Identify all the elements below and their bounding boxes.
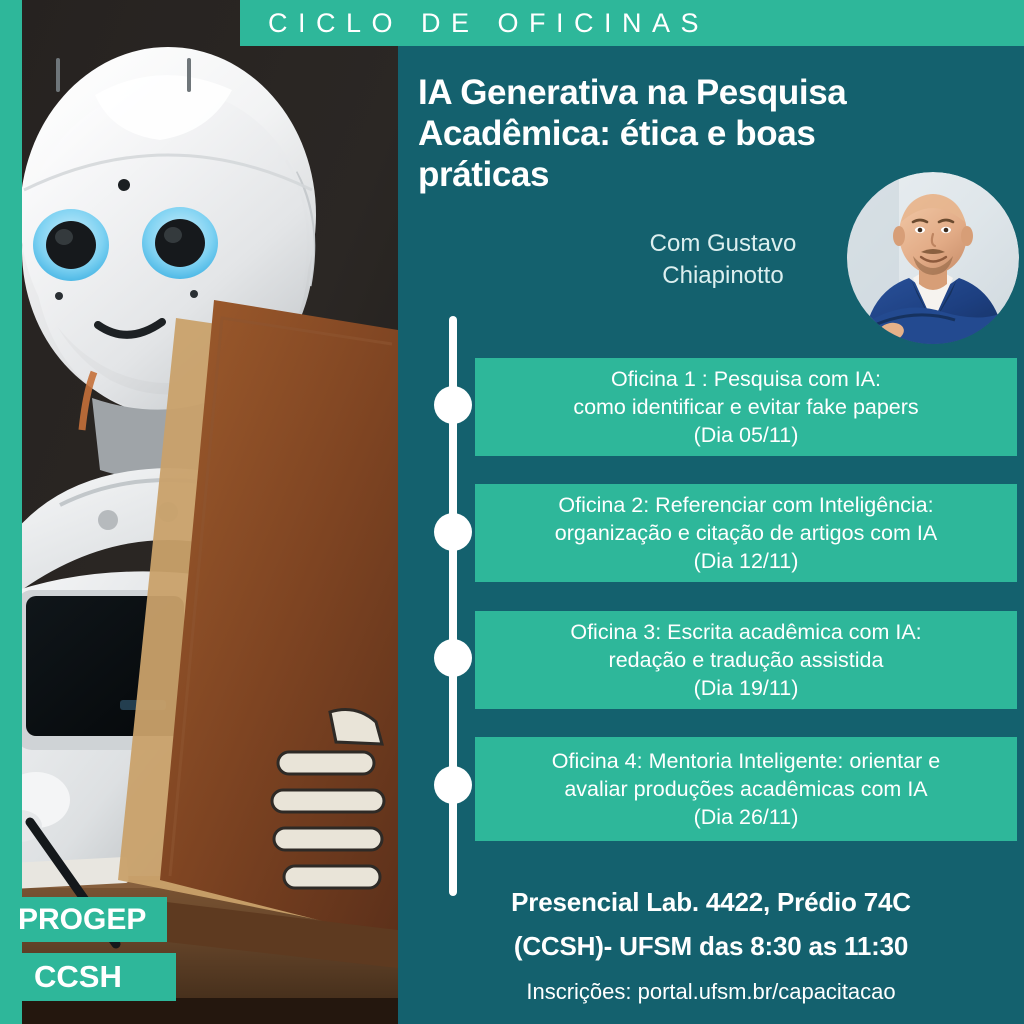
title-line-1: IA Generativa na Pesquisa <box>418 73 846 112</box>
title-line-2: Acadêmica: ética e boas <box>418 114 815 153</box>
badge-progep: PROGEP <box>0 897 167 942</box>
workshop-3-line-2: redação e tradução assistida <box>485 646 1007 674</box>
header-banner: CICLO DE OFICINAS <box>240 0 1024 46</box>
footer-location: Presencial Lab. 4422, Prédio 74C <box>398 880 1024 924</box>
speaker-portrait-illustration <box>847 172 1019 344</box>
timeline-dot-2 <box>434 513 472 551</box>
left-green-strip <box>0 0 22 1024</box>
page-title: IA Generativa na Pesquisa Acadêmica: éti… <box>418 72 938 195</box>
workshop-1-line-1: Oficina 1 : Pesquisa com IA: <box>485 365 1007 393</box>
workshop-3-date: (Dia 19/11) <box>485 674 1007 702</box>
workshop-card-2[interactable]: Oficina 2: Referenciar com Inteligência:… <box>475 484 1017 582</box>
poster-canvas: IA Generativa na Pesquisa Acadêmica: éti… <box>0 0 1024 1024</box>
workshop-card-4[interactable]: Oficina 4: Mentoria Inteligente: orienta… <box>475 737 1017 841</box>
workshop-2-date: (Dia 12/11) <box>485 547 1007 575</box>
badge-ccsh: CCSH <box>0 953 176 1001</box>
badge-ccsh-label: CCSH <box>34 959 122 995</box>
speaker-line-2: Chiapinotto <box>662 262 783 289</box>
workshop-4-line-2: avaliar produções acadêmicas com IA <box>485 775 1007 803</box>
workshop-4-date: (Dia 26/11) <box>485 803 1007 831</box>
workshop-card-1[interactable]: Oficina 1 : Pesquisa com IA: como identi… <box>475 358 1017 456</box>
footer-schedule: (CCSH)- UFSM das 8:30 as 11:30 <box>398 924 1024 968</box>
speaker-label: Com Gustavo Chiapinotto <box>598 228 848 292</box>
footer-info: Presencial Lab. 4422, Prédio 74C (CCSH)-… <box>398 880 1024 1012</box>
timeline-dot-3 <box>434 639 472 677</box>
workshop-3-line-1: Oficina 3: Escrita acadêmica com IA: <box>485 618 1007 646</box>
speaker-avatar <box>847 172 1019 344</box>
workshop-2-line-2: organização e citação de artigos com IA <box>485 519 1007 547</box>
title-line-3: práticas <box>418 155 549 194</box>
workshop-1-date: (Dia 05/11) <box>485 421 1007 449</box>
robot-illustration <box>0 0 398 1024</box>
workshop-1-line-2: como identificar e evitar fake papers <box>485 393 1007 421</box>
workshop-2-line-1: Oficina 2: Referenciar com Inteligência: <box>485 491 1007 519</box>
workshop-4-line-1: Oficina 4: Mentoria Inteligente: orienta… <box>485 747 1007 775</box>
speaker-line-1: Com Gustavo <box>650 230 797 257</box>
badge-progep-label: PROGEP <box>18 903 146 937</box>
banner-title: CICLO DE OFICINAS <box>240 8 709 39</box>
timeline-dot-4 <box>434 766 472 804</box>
robot-photo <box>0 0 398 1024</box>
timeline-dot-1 <box>434 386 472 424</box>
workshop-card-3[interactable]: Oficina 3: Escrita acadêmica com IA: red… <box>475 611 1017 709</box>
footer-registration-link[interactable]: Inscrições: portal.ufsm.br/capacitacao <box>398 972 1024 1012</box>
